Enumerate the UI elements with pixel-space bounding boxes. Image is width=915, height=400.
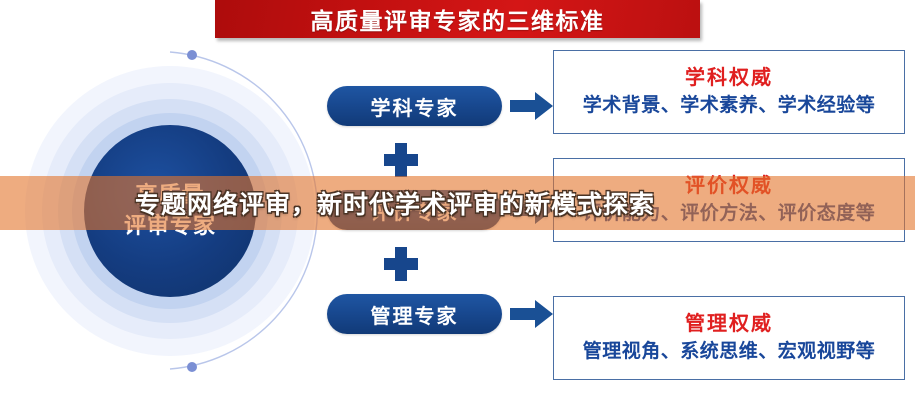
pill-label: 管理专家 bbox=[371, 300, 459, 329]
panel-title: 学科权威 bbox=[685, 66, 773, 91]
title-banner-text: 高质量评审专家的三维标准 bbox=[311, 2, 605, 36]
arrow-right-glyph bbox=[510, 298, 554, 330]
pill-label: 学科专家 bbox=[371, 92, 459, 121]
arrow-right-icon bbox=[510, 298, 554, 330]
panel-management-authority: 管理权威 管理视角、系统思维、宏观视野等 bbox=[553, 296, 905, 380]
panel-discipline-authority: 学科权威 学术背景、学术素养、学术经验等 bbox=[553, 50, 905, 134]
pill-discipline-expert[interactable]: 学科专家 bbox=[327, 86, 502, 126]
title-banner: 高质量评审专家的三维标准 bbox=[215, 0, 700, 38]
infographic-canvas: 高质量评审专家的三维标准 高质量 评审专家 学科专家 评价专家 管理专家 bbox=[0, 0, 915, 400]
arrow-right-glyph bbox=[510, 90, 554, 122]
pill-management-expert[interactable]: 管理专家 bbox=[327, 294, 502, 334]
plus-icon bbox=[384, 247, 418, 281]
overlay-headline: 专题网络评审，新时代学术评审的新模式探索 bbox=[0, 176, 915, 230]
panel-body: 管理视角、系统思维、宏观视野等 bbox=[583, 340, 876, 365]
panel-body: 学术背景、学术素养、学术经验等 bbox=[583, 94, 876, 119]
arrow-right-icon bbox=[510, 90, 554, 122]
orbit-dot bbox=[187, 50, 197, 60]
orbit-dot bbox=[187, 362, 197, 372]
panel-title: 管理权威 bbox=[685, 312, 773, 337]
overlay-headline-text: 专题网络评审，新时代学术评审的新模式探索 bbox=[135, 185, 655, 221]
plus-icon bbox=[384, 143, 418, 177]
